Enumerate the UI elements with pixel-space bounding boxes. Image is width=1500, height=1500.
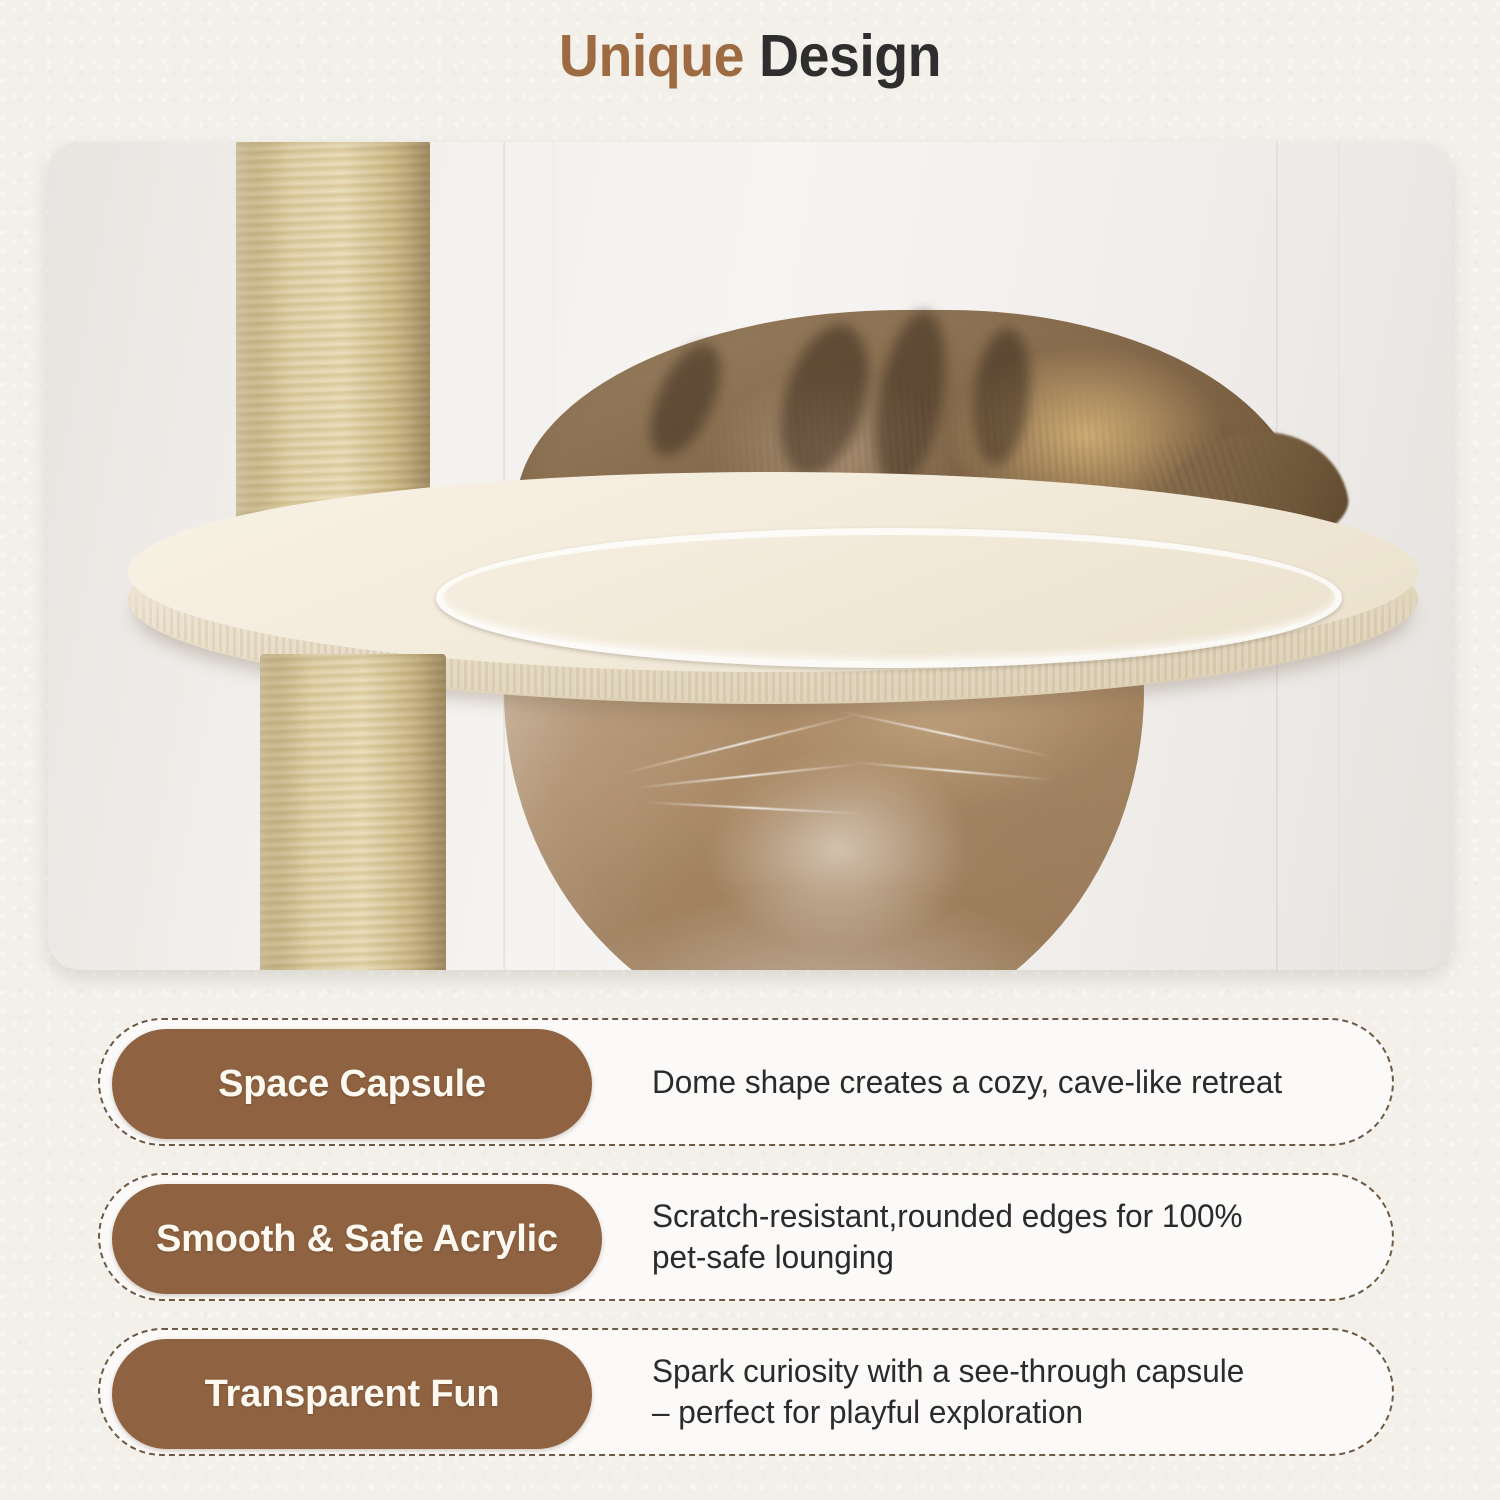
feature-list: Space Capsule Dome shape creates a cozy,… bbox=[98, 1018, 1394, 1456]
feature-pill-space-capsule: Space Capsule bbox=[112, 1029, 592, 1139]
feature-description-smooth-safe-acrylic: Scratch-resistant,rounded edges for 100%… bbox=[652, 1196, 1331, 1278]
feature-description-space-capsule: Dome shape creates a cozy, cave-like ret… bbox=[652, 1062, 1331, 1103]
feature-description-transparent-fun: Spark curiosity with a see-through capsu… bbox=[652, 1351, 1331, 1433]
feature-row: Space Capsule Dome shape creates a cozy,… bbox=[98, 1018, 1394, 1146]
sisal-rope-post-upper bbox=[236, 142, 430, 530]
page-title-word-design: Design bbox=[759, 23, 941, 89]
feature-row: Transparent Fun Spark curiosity with a s… bbox=[98, 1328, 1394, 1456]
page-title: Unique Design bbox=[45, 22, 1455, 90]
acrylic-dome-rim bbox=[436, 528, 1342, 668]
sisal-rope-post-lower bbox=[260, 654, 446, 970]
feature-pill-smooth-safe-acrylic: Smooth & Safe Acrylic bbox=[112, 1184, 602, 1294]
page-title-word-unique: Unique bbox=[559, 23, 744, 89]
feature-pill-transparent-fun: Transparent Fun bbox=[112, 1339, 592, 1449]
product-photo-scene bbox=[48, 142, 1452, 970]
product-photo-card bbox=[48, 142, 1452, 970]
feature-row: Smooth & Safe Acrylic Scratch-resistant,… bbox=[98, 1173, 1394, 1301]
